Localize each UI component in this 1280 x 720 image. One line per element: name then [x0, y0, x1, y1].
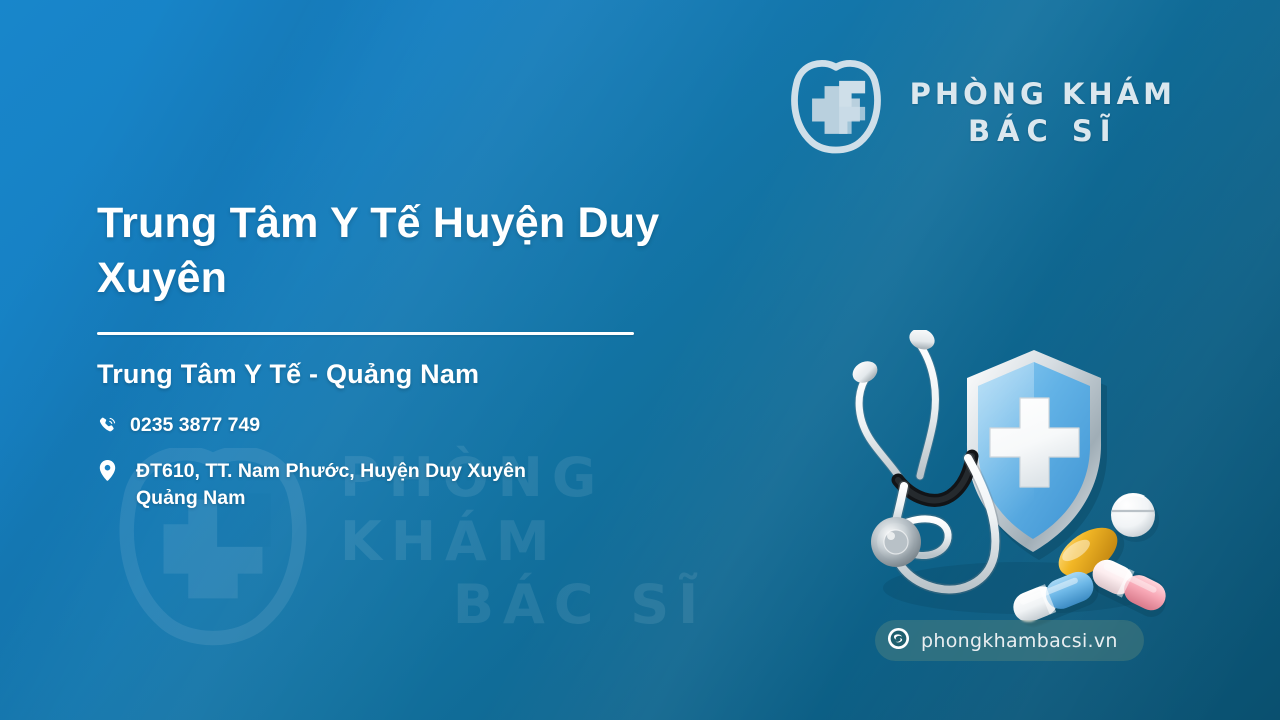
address-line-1: ĐT610, TT. Nam Phước, Huyện Duy Xuyên — [136, 460, 526, 482]
medical-shield-stethoscope-pills-illustration — [838, 330, 1178, 630]
pink-white-capsule — [1085, 555, 1173, 622]
shield-with-cross — [967, 350, 1107, 560]
globe-icon — [887, 627, 910, 655]
brand-line-1: PHÒNG KHÁM — [910, 76, 1176, 112]
brand-text: PHÒNG KHÁM BÁC SĨ — [910, 76, 1176, 149]
address-row: ĐT610, TT. Nam Phước, Huyện Duy Xuyên Qu… — [97, 458, 717, 512]
brand-line-2: BÁC SĨ — [910, 113, 1176, 149]
phone-number[interactable]: 0235 3877 749 — [130, 412, 260, 439]
map-pin-icon — [97, 458, 117, 482]
address-text: ĐT610, TT. Nam Phước, Huyện Duy Xuyên Qu… — [130, 458, 526, 512]
page-subtitle: Trung Tâm Y Tế - Quảng Nam — [97, 359, 717, 390]
phone-ring-icon — [97, 412, 117, 436]
phone-row: 0235 3877 749 — [97, 412, 717, 439]
divider — [97, 332, 634, 335]
brand-logo: PHÒNG KHÁM BÁC SĨ — [784, 58, 1176, 167]
site-url-label: phongkhambacsi.vn — [921, 630, 1118, 652]
page-title: Trung Tâm Y Tế Huyện Duy Xuyên — [97, 196, 717, 306]
clinic-cross-logo-icon — [784, 58, 888, 167]
site-badge[interactable]: phongkhambacsi.vn — [875, 620, 1144, 661]
content-block: Trung Tâm Y Tế Huyện Duy Xuyên Trung Tâm… — [97, 196, 717, 512]
banner-root: PHÒNG KHÁM BÁC SĨ PHÒNG KHÁM BÁC SĨ Trun… — [0, 0, 1280, 720]
watermark-line-2: BÁC SĨ — [340, 573, 810, 637]
stethoscope — [849, 330, 996, 590]
address-line-2: Quảng Nam — [136, 487, 245, 509]
